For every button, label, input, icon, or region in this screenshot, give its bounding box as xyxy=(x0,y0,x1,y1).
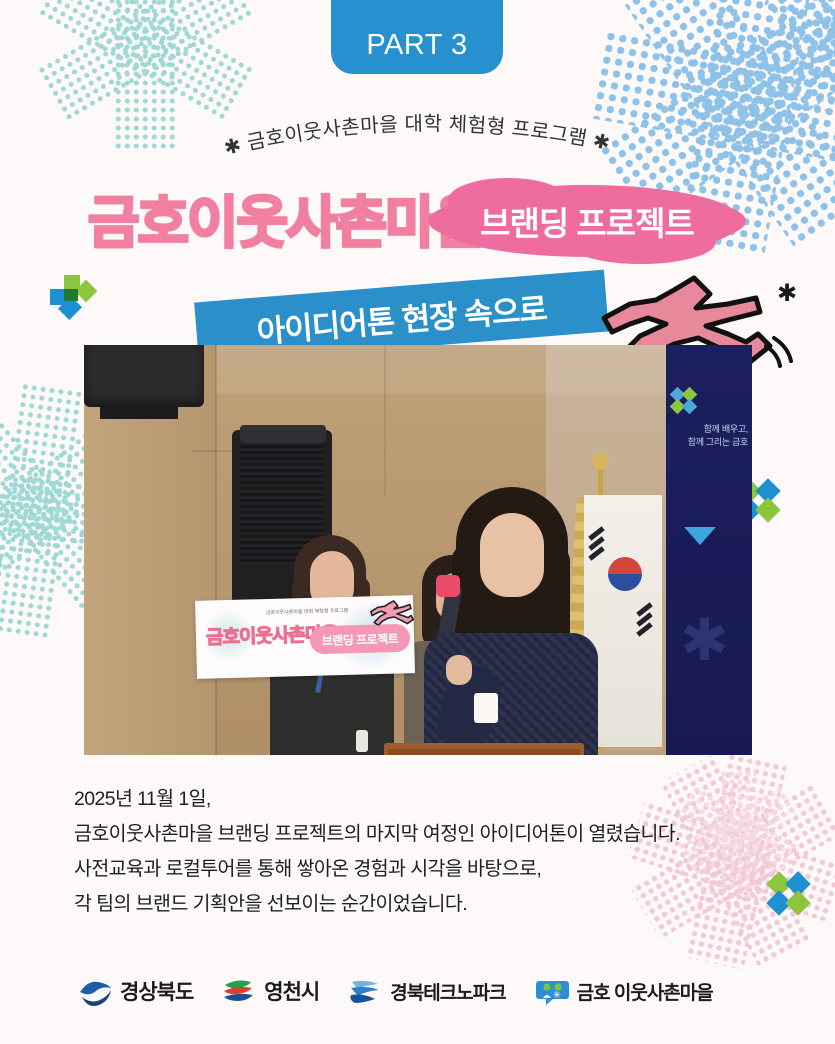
floor-speaker-top xyxy=(240,425,326,443)
page-title: 금호이웃사촌마을 xyxy=(88,178,484,259)
geumho-village-logo-icon: ✳ xyxy=(535,976,570,1006)
event-photo: ✱ 함께 배우고, 함께 그리는 금호 금호이웃사촌마을 대학 체험형 프로 xyxy=(84,345,752,755)
asterisk-icon: ✱ xyxy=(777,282,797,306)
body-line-2: 금호이웃사촌마을 브랜딩 프로젝트의 마지막 여정인 아이디어톤이 열렸습니다. xyxy=(74,817,774,852)
program-subtitle-arc: ✱ 금호이웃사촌마을 대학 체험형 프로그램 ✱ xyxy=(165,108,670,178)
x-mark-icon xyxy=(770,875,808,913)
pinwheel-mark-icon xyxy=(50,275,94,319)
photo-wall-seam xyxy=(215,345,217,755)
podium-sign-pill-label: 브랜딩 프로젝트 xyxy=(321,630,398,649)
flag-taegeuk xyxy=(608,557,642,591)
backdrop-banner-line2: 함께 그리는 금호 xyxy=(676,436,748,449)
person-speaker-hand xyxy=(446,655,472,685)
logo-label: 금호 이웃사촌마을 xyxy=(577,978,713,1005)
footer-logos: 경상북도 영천시 경북테크노파크 xyxy=(78,963,768,1019)
photo-wall-top xyxy=(216,345,666,393)
svg-text:✱ 금호이웃사촌마을 대학 체험형 프로그램 ✱: ✱ 금호이웃사촌마을 대학 체험형 프로그램 ✱ xyxy=(222,112,612,159)
blue-halftone-flower-small-icon xyxy=(760,0,835,110)
photo-wall-seam xyxy=(384,345,386,495)
svg-text:✳: ✳ xyxy=(552,990,560,1001)
flag-finial xyxy=(592,453,609,470)
backdrop-banner-line1: 함께 배우고, xyxy=(676,423,748,436)
logo-label: 경북테크노파크 xyxy=(390,978,505,1005)
gyeongsangbuk-do-logo-icon xyxy=(78,976,113,1006)
backdrop-pinwheel-icon xyxy=(672,389,696,413)
backdrop-arrow-icon xyxy=(684,527,716,545)
ceiling-speaker-mount xyxy=(100,407,178,419)
brand-project-label: 브랜딩 프로젝트 xyxy=(480,197,694,245)
backdrop-banner-text: 함께 배우고, 함께 그리는 금호 xyxy=(676,423,748,449)
podium-edge xyxy=(388,749,580,755)
promo-card: PART 3 ✱ 금호이웃사촌마을 대학 체험형 프로그램 ✱ 금호이웃사촌마을… xyxy=(0,0,835,1044)
gyeongbuk-technopark-logo-icon xyxy=(348,976,383,1006)
logo-gyeongbuk-technopark: 경북테크노파크 xyxy=(348,976,505,1006)
microphone-flag xyxy=(436,575,460,597)
body-line-1: 2025년 11월 1일, xyxy=(74,782,774,817)
brand-project-pill: 브랜딩 프로젝트 xyxy=(432,185,742,257)
part-badge: PART 3 xyxy=(331,0,503,74)
logo-label: 영천시 xyxy=(264,976,319,1006)
person-speaker-face xyxy=(480,513,544,597)
logo-geumho-village: ✳ 금호 이웃사촌마을 xyxy=(535,976,713,1006)
part-badge-label: PART 3 xyxy=(366,29,467,62)
backdrop-asterisk-icon: ✱ xyxy=(680,615,740,675)
name-tag xyxy=(474,693,498,723)
logo-gyeongsangbuk-do: 경상북도 xyxy=(78,976,193,1006)
event-banner-label: 아이디어톤 현장 속으로 xyxy=(255,283,548,351)
podium-sign-runner-icon xyxy=(370,598,415,625)
body-line-4: 각 팀의 브랜드 기획안을 선보이는 순간이었습니다. xyxy=(74,887,774,922)
podium-sign-pill: 브랜딩 프로젝트 xyxy=(310,624,411,655)
water-bottle xyxy=(356,730,368,752)
logo-label: 경상북도 xyxy=(120,976,193,1006)
yeongcheon-si-logo-icon xyxy=(222,976,257,1006)
logo-yeongcheon-si: 영천시 xyxy=(222,976,319,1006)
body-line-3: 사전교육과 로컬투어를 통해 쌓아온 경험과 시각을 바탕으로, xyxy=(74,852,774,887)
ceiling-speaker xyxy=(84,345,204,407)
body-text: 2025년 11월 1일, 금호이웃사촌마을 브랜딩 프로젝트의 마지막 여정인… xyxy=(74,782,774,922)
